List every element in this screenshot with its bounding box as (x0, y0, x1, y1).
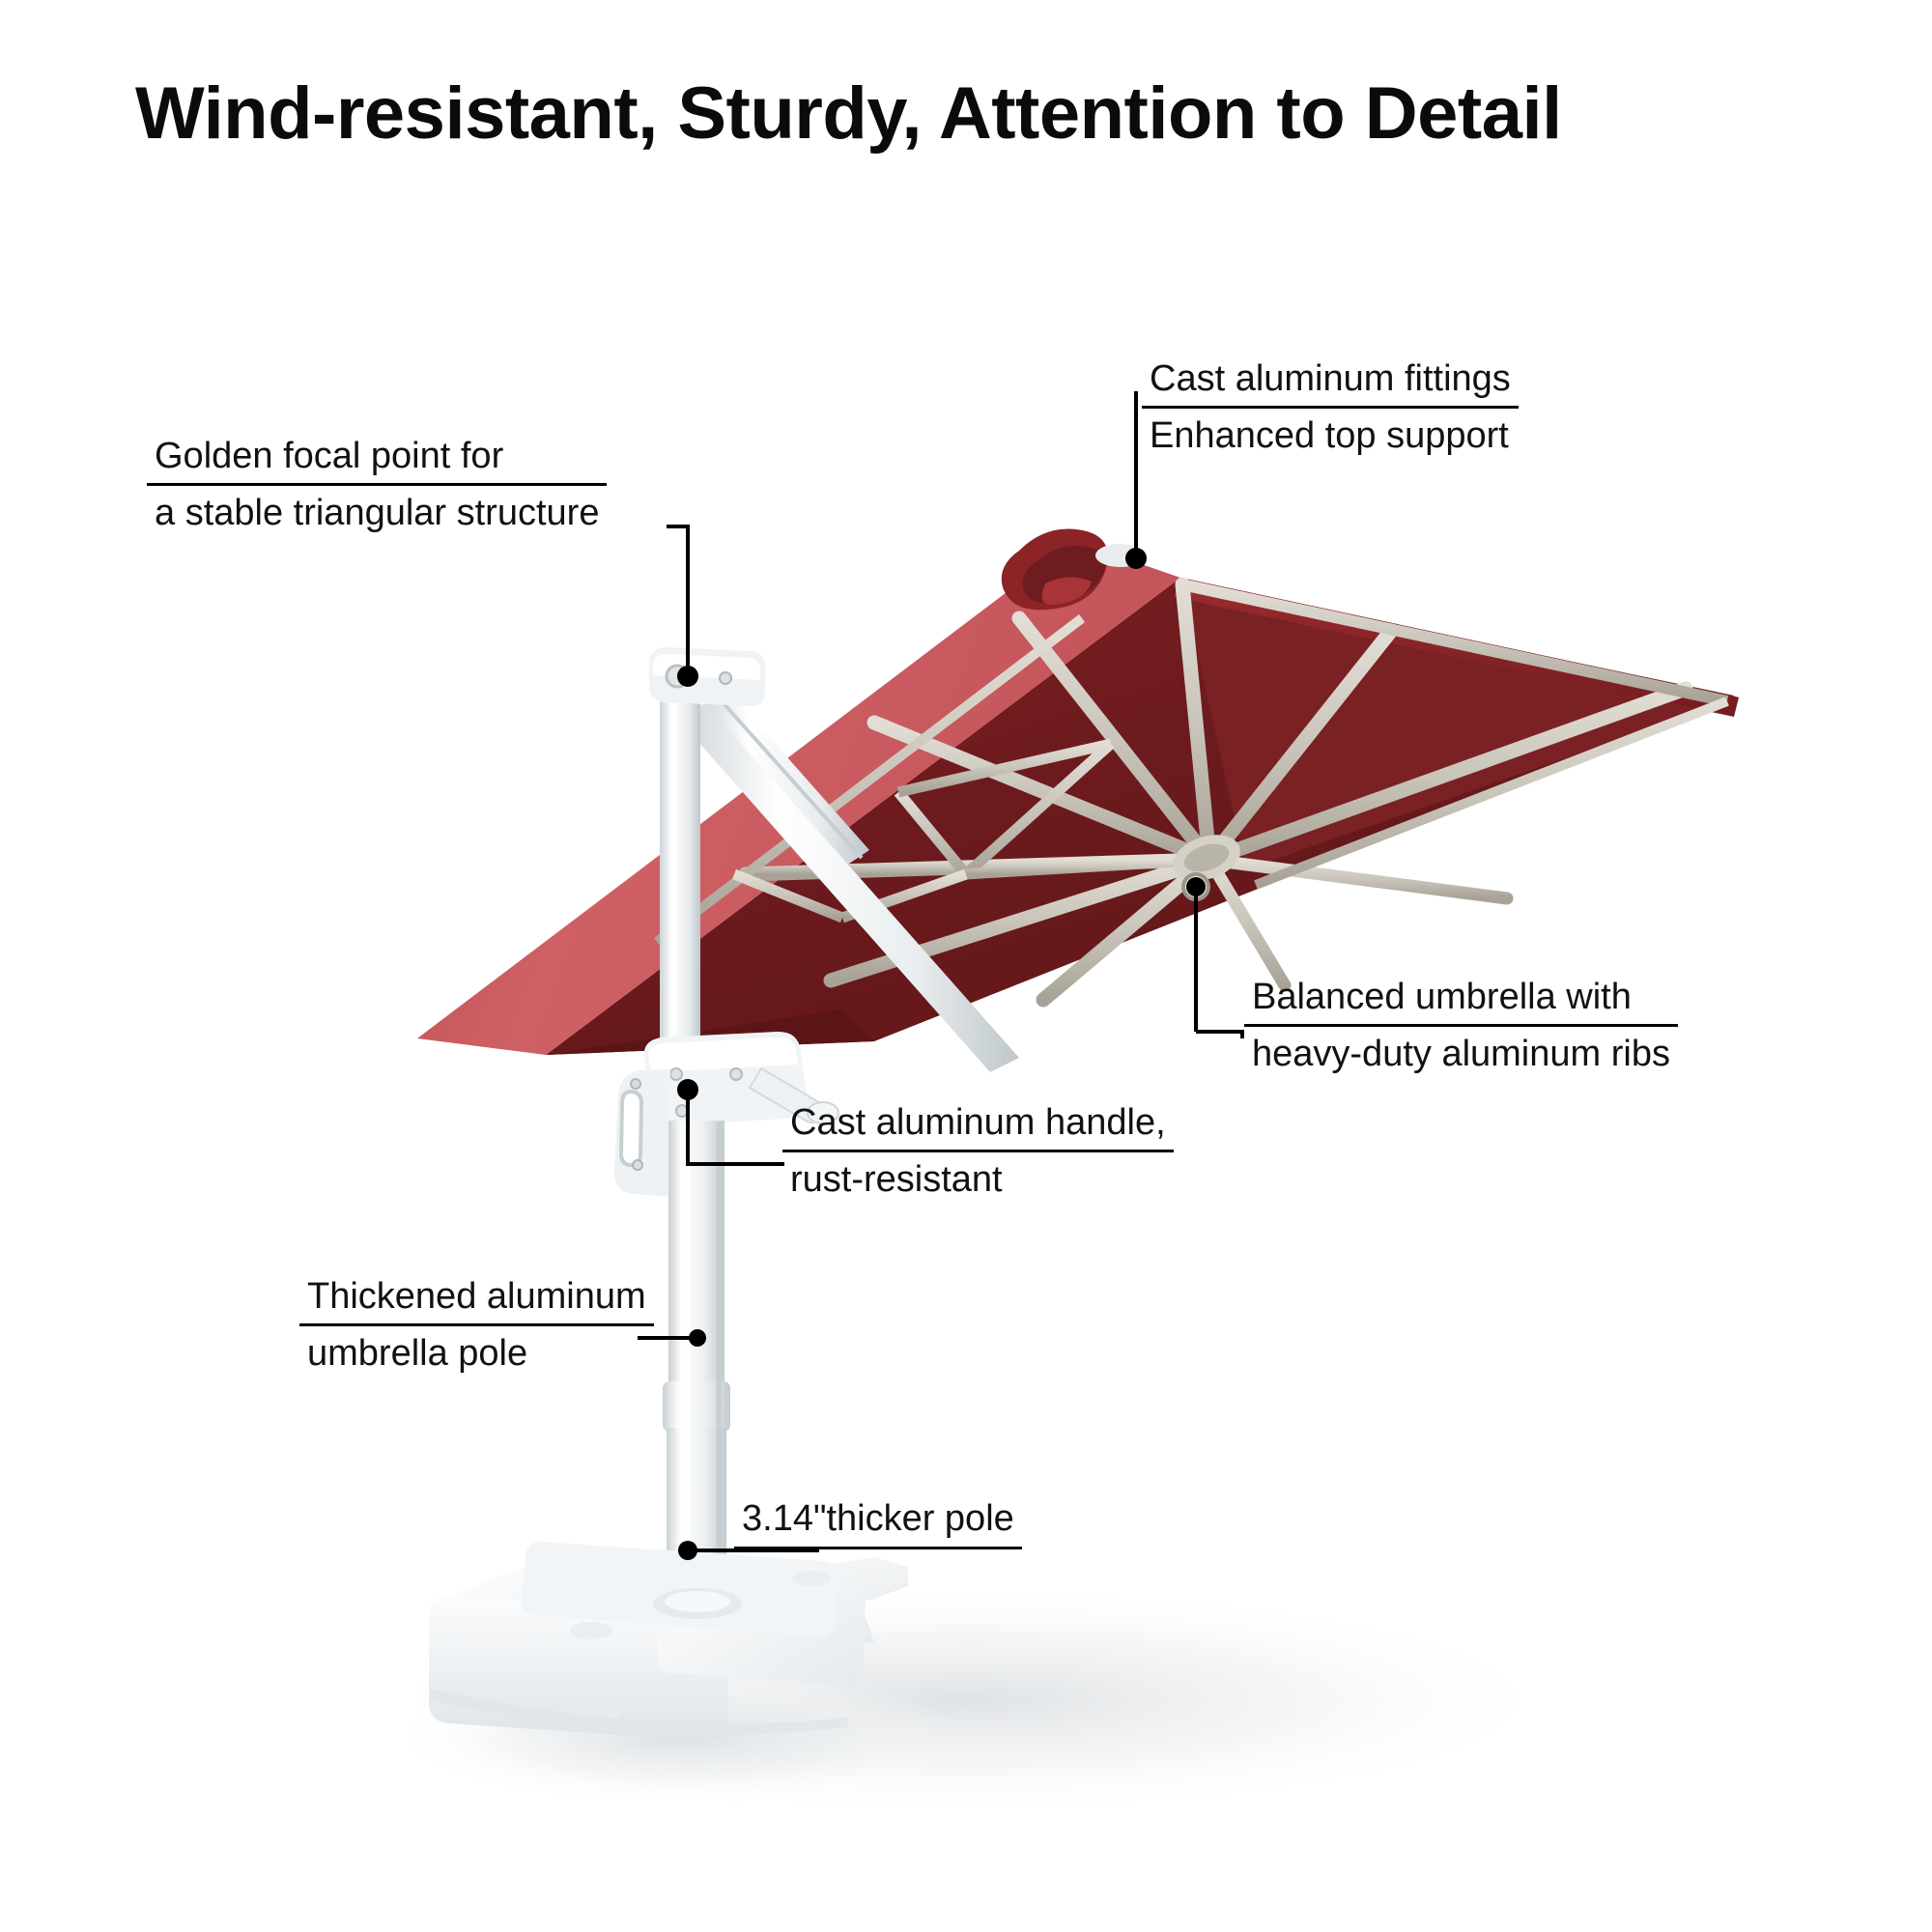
infographic-page: Wind-resistant, Sturdy, Attention to Det… (0, 0, 1932, 1932)
canopy-underside-right-wedge (1180, 578, 1739, 869)
top-bracket (649, 647, 765, 706)
callout-cast-aluminum-fittings-line1: Cast aluminum fittings (1142, 355, 1519, 406)
callout-balanced-umbrella: Balanced umbrella with heavy-duty alumin… (1244, 974, 1678, 1077)
canopy-crown-cap (1095, 544, 1146, 567)
base-pole-socket-inner (665, 1591, 730, 1612)
callout-thickened-pole-line2: umbrella pole (299, 1323, 654, 1378)
callout-cast-aluminum-fittings: Cast aluminum fittings Enhanced top supp… (1142, 355, 1519, 459)
callout-cast-aluminum-handle-line2: rust-resistant (782, 1150, 1174, 1204)
base-fill-cap-left (570, 1622, 612, 1639)
callout-balanced-umbrella-line2: heavy-duty aluminum ribs (1244, 1024, 1678, 1078)
callout-cast-aluminum-fittings-line2: Enhanced top support (1142, 406, 1519, 460)
pole-upper-section (668, 1121, 724, 1391)
handle-grip-slot (621, 1092, 641, 1165)
callout-cast-aluminum-handle: Cast aluminum handle, rust-resistant (782, 1099, 1174, 1203)
callout-thickened-pole: Thickened aluminum umbrella pole (299, 1273, 654, 1377)
callout-thickened-pole-line1: Thickened aluminum (299, 1273, 654, 1323)
upper-mast (660, 676, 700, 1082)
hub-ring (1183, 874, 1208, 899)
callout-golden-focal-point-line2: a stable triangular structure (147, 483, 607, 537)
callout-thicker-pole-spec: 3.14"thicker pole (734, 1495, 1022, 1549)
callout-cast-aluminum-handle-line1: Cast aluminum handle, (782, 1099, 1174, 1150)
callout-golden-focal-point: Golden focal point for a stable triangul… (147, 433, 607, 536)
bracket-screw (720, 672, 731, 684)
callout-thicker-pole-spec-line1: 3.14"thicker pole (734, 1495, 1022, 1549)
callout-golden-focal-point-line1: Golden focal point for (147, 433, 607, 483)
bracket-hole (667, 666, 688, 687)
product-illustration (0, 0, 1932, 1932)
callout-balanced-umbrella-line1: Balanced umbrella with (1244, 974, 1678, 1024)
base-fill-cap-right (792, 1571, 831, 1586)
